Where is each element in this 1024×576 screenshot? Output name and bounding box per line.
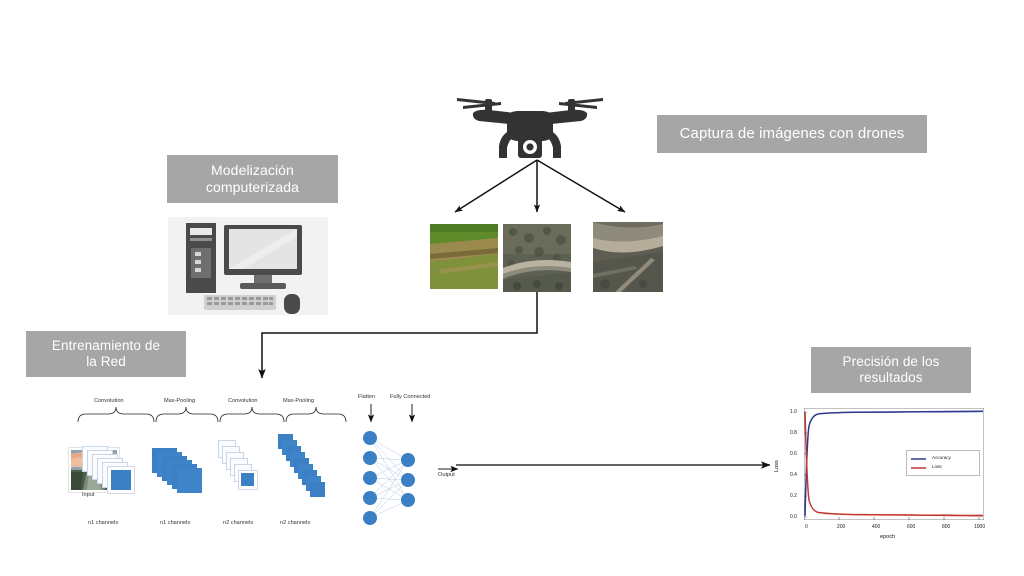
cnn-fully-connected-layers — [344, 424, 454, 534]
aerial-photo-2 — [503, 224, 571, 292]
cnn-diagram: Convolution Max-Pooling Convolution Max-… — [60, 392, 470, 552]
caption-modeling-line1: Modelización — [211, 162, 294, 179]
chart-xtick-0: 0 — [805, 524, 808, 530]
chart-ytick-5: 1.0 — [790, 409, 797, 415]
chart-legend-label-accuracy: Accuracy — [932, 455, 951, 460]
chart-xtick-1: 200 — [837, 524, 845, 530]
arrow-drone-to-photo-left — [455, 160, 537, 212]
caption-modeling: Modelización computerizada — [167, 155, 338, 203]
aerial-photo-1-image — [430, 224, 498, 289]
drone-quadcopter-icon — [455, 82, 605, 160]
chart-ytick-1: 0.2 — [790, 493, 797, 499]
aerial-photo-3 — [593, 222, 663, 292]
chart-legend-swatches — [911, 456, 929, 472]
cnn-input-label: Input — [82, 492, 94, 498]
chart-xlabel: epoch — [880, 534, 895, 540]
chart-xtick-3: 600 — [907, 524, 915, 530]
aerial-photo-3-image — [593, 222, 663, 292]
chart-legend: Accuracy Loss — [906, 450, 980, 476]
caption-training-line2: la Red — [86, 354, 126, 370]
cnn-channel-label-1: n1 channels — [160, 520, 190, 526]
chart-ylabel: Loss — [774, 460, 780, 472]
aerial-photo-2-image — [503, 224, 571, 292]
cnn-channel-label-2: n2 channels — [223, 520, 253, 526]
caption-training-line1: Entrenamiento de — [52, 338, 160, 354]
arrow-drone-to-photo-right — [537, 160, 625, 212]
caption-drone-capture: Captura de imágenes con drones — [657, 115, 927, 153]
chart-xtick-4: 800 — [942, 524, 950, 530]
computer-icon-svg — [168, 217, 328, 315]
chart-xtick-2: 400 — [872, 524, 880, 530]
caption-results-line2: resultados — [859, 370, 922, 386]
chart-ytick-3: 0.6 — [790, 451, 797, 457]
cnn-channel-label-3: n2 channels — [280, 520, 310, 526]
aerial-photo-1 — [430, 224, 498, 289]
cnn-channel-label-0: n1 channels — [88, 520, 118, 526]
cnn-output-label: Output — [438, 472, 455, 478]
caption-results: Precisión de los resultados — [811, 347, 971, 393]
drone-icon-svg — [455, 82, 605, 160]
caption-training: Entrenamiento de la Red — [26, 331, 186, 377]
caption-drone-capture-text: Captura de imágenes con drones — [680, 125, 905, 143]
chart-ytick-4: 0.8 — [790, 430, 797, 436]
caption-modeling-line2: computerizada — [206, 179, 299, 196]
caption-results-line1: Precisión de los — [843, 354, 940, 370]
chart-legend-label-loss: Loss — [932, 464, 942, 469]
desktop-computer-icon — [168, 217, 328, 315]
chart-ytick-2: 0.4 — [790, 472, 797, 478]
workflow-diagram: Captura de imágenes con drones Modelizac… — [0, 0, 1024, 576]
chart-ytick-0: 0.0 — [790, 514, 797, 520]
chart-xtick-5: 1000 — [974, 524, 985, 530]
accuracy-chart: Loss 1.0 0.8 0.6 0.4 0.2 0.0 0 200 400 6… — [780, 398, 995, 550]
